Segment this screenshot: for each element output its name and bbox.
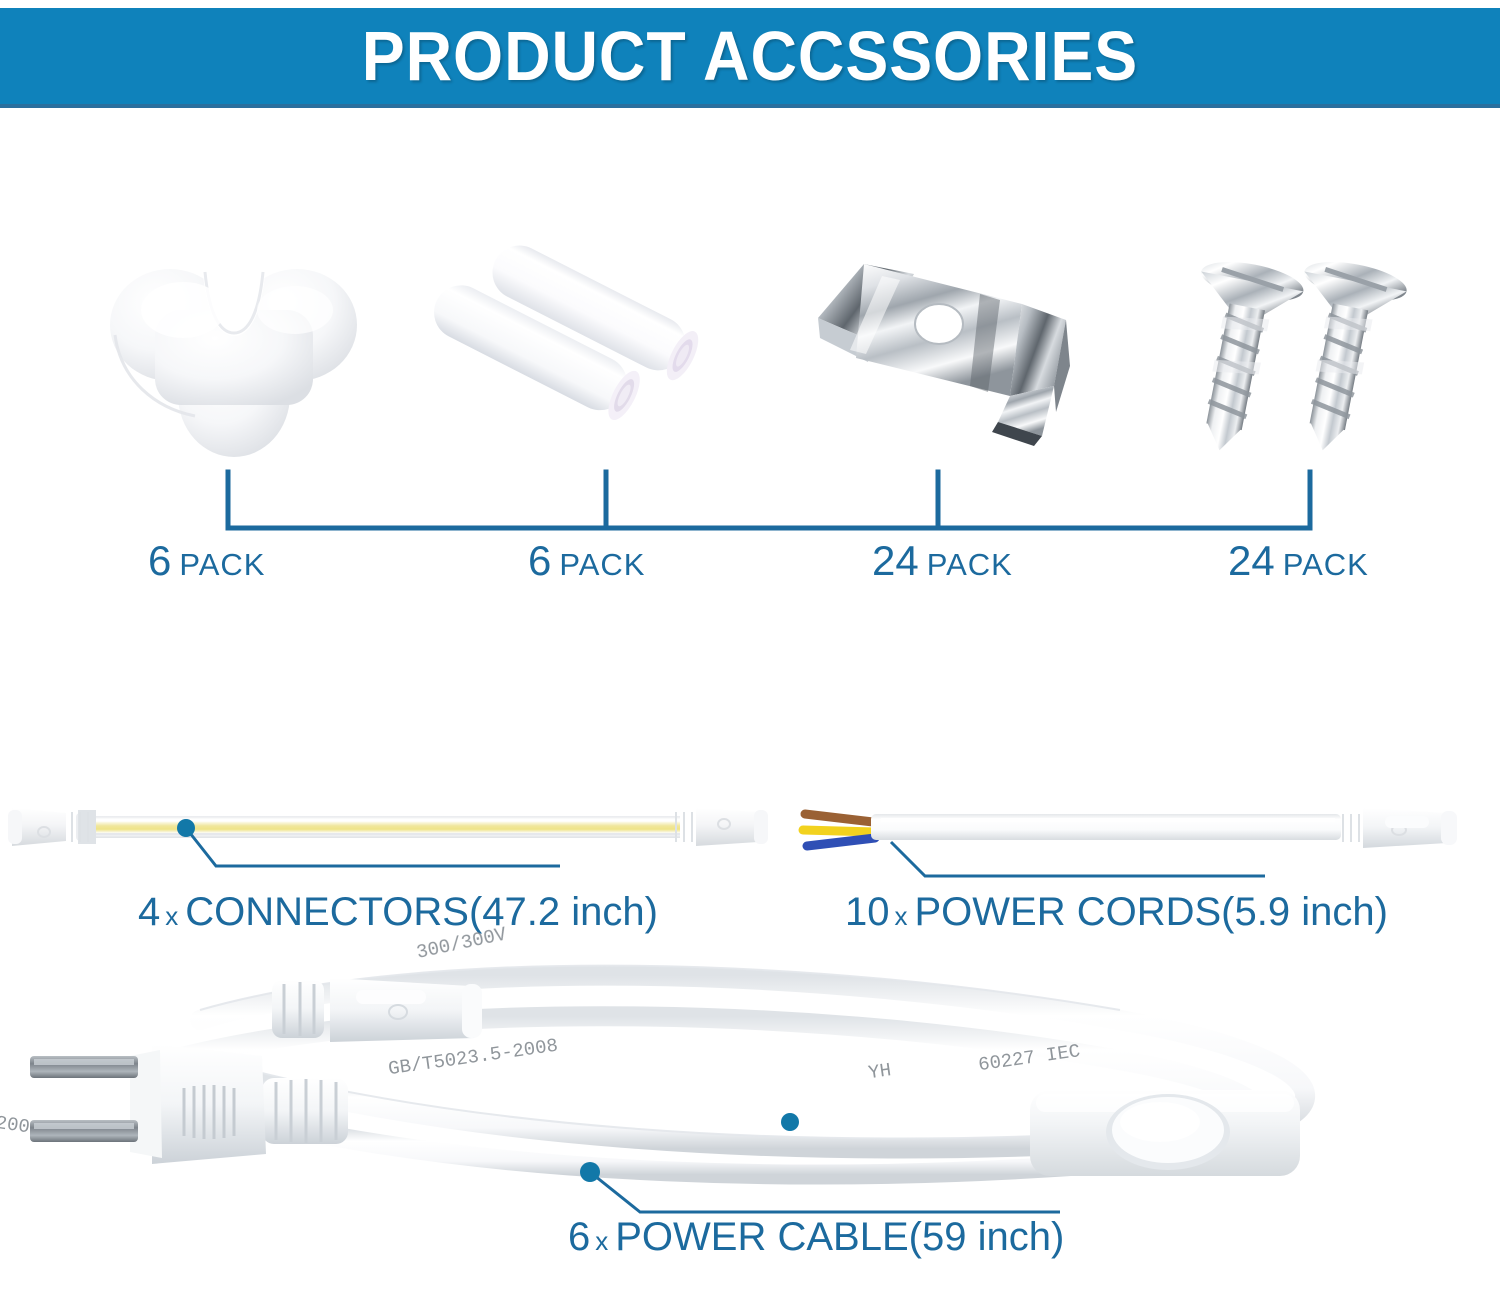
- item-screws: [1165, 240, 1455, 470]
- pack-quantity: 6: [148, 537, 171, 584]
- pack-label-screws: 24PACK: [1228, 537, 1369, 585]
- header-banner: PRODUCT ACCSSORIES: [0, 8, 1500, 108]
- power-cable-multiplier: x: [595, 1226, 608, 1256]
- power-cable-row: GB/T5023.5-2008 YH 60227 IEC 2x0.5mm² 30…: [0, 960, 1500, 1220]
- cable-marking: YH: [867, 1059, 893, 1084]
- socket-connector: [330, 978, 482, 1042]
- pack-quantity: 24: [872, 537, 919, 584]
- pack-bracket: [226, 472, 1312, 548]
- power-cord-quantity: 10: [845, 890, 890, 934]
- strain-relief-b: [272, 980, 324, 1038]
- exposed-wires: [803, 814, 875, 846]
- connector-cable-label: 4xCONNECTORS(47.2 inch): [138, 890, 658, 935]
- us-plug: [30, 1044, 266, 1164]
- product-accessories-infographic: PRODUCT ACCSSORIES: [0, 0, 1500, 1307]
- accessory-items-row: [0, 240, 1500, 470]
- page-title: PRODUCT ACCSSORIES: [362, 16, 1138, 96]
- metal-bracket-icon: [800, 240, 1090, 470]
- cable-row: 4xCONNECTORS(47.2 inch) 10xPOWER CORDS(5…: [0, 780, 1500, 910]
- power-cable-label: 6xPOWER CABLE(59 inch): [568, 1215, 1064, 1260]
- power-cable-text: POWER CABLE(59 inch): [615, 1215, 1064, 1259]
- inline-switch: [1030, 1090, 1300, 1176]
- connector-multiplier: x: [165, 901, 178, 931]
- pack-label-tube-connector: 6PACK: [528, 537, 645, 585]
- pack-unit: PACK: [179, 547, 265, 582]
- cable-callout-dot: [781, 1113, 799, 1131]
- pack-unit: PACK: [927, 547, 1013, 582]
- cable-marking: GB/T5023.5-2008: [387, 1035, 559, 1081]
- pack-label-metal-clip: 24PACK: [872, 537, 1013, 585]
- item-end-cap-clip: [95, 240, 385, 470]
- item-tube-connector: [445, 240, 735, 470]
- item-metal-mounting-clip: [800, 240, 1090, 470]
- tube-connector-icon: [445, 240, 735, 470]
- connector-plug-left: [8, 808, 96, 846]
- pack-quantity: 6: [528, 537, 551, 584]
- pack-unit: PACK: [1283, 547, 1369, 582]
- strain-relief-a: [262, 1078, 348, 1144]
- power-cord-text: POWER CORDS(5.9 inch): [915, 890, 1388, 934]
- connector-plug-right: [676, 808, 768, 846]
- power-cable-quantity: 6: [568, 1215, 590, 1259]
- power-cable-art: GB/T5023.5-2008 YH 60227 IEC 2x0.5mm² 30…: [0, 960, 1500, 1220]
- connector-text: CONNECTORS(47.2 inch): [185, 890, 658, 934]
- pack-unit: PACK: [559, 547, 645, 582]
- pack-label-end-cap-clip: 6PACK: [148, 537, 265, 585]
- power-cord-callout: [891, 842, 1265, 876]
- connector-quantity: 4: [138, 890, 160, 934]
- trefoil-clip-icon: [95, 240, 385, 470]
- power-cord-label: 10xPOWER CORDS(5.9 inch): [845, 890, 1388, 935]
- power-cord-plug: [1343, 808, 1457, 848]
- power-cord-multiplier: x: [895, 901, 908, 931]
- screws-icon: [1165, 240, 1455, 470]
- pack-quantity: 24: [1228, 537, 1275, 584]
